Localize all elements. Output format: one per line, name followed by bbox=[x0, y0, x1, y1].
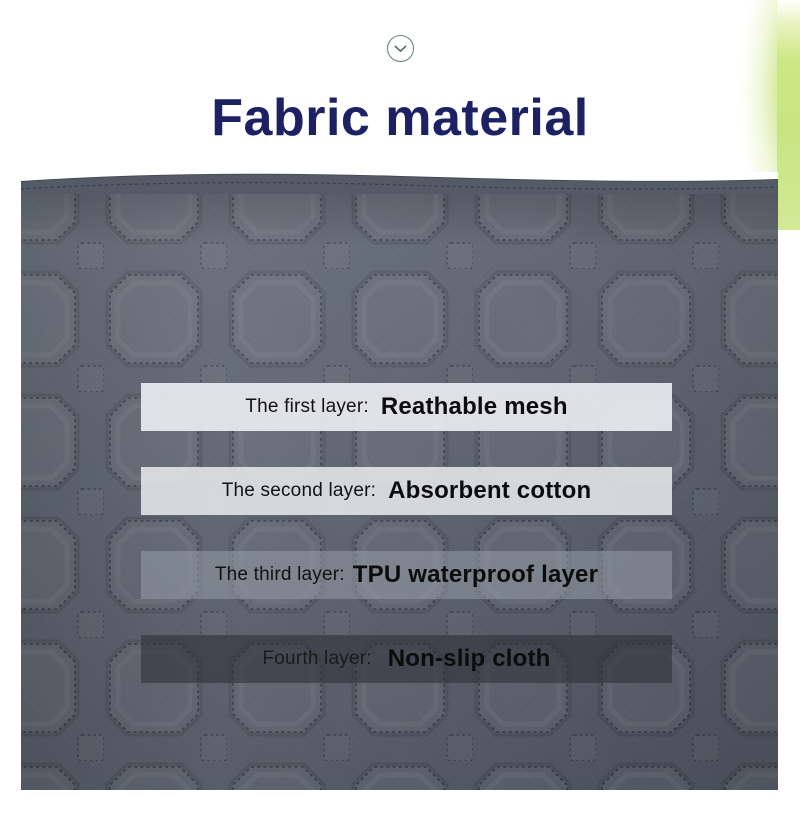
layer-value-second: Absorbent cotton bbox=[388, 477, 591, 505]
page-title: Fabric material bbox=[0, 88, 800, 148]
layer-band-second: The second layer: Absorbent cotton bbox=[141, 467, 672, 515]
layer-lead-third: The third layer: bbox=[215, 564, 345, 586]
fabric-hem-mask bbox=[21, 172, 778, 194]
layer-value-fourth: Non-slip cloth bbox=[388, 645, 551, 673]
layer-value-third: TPU waterproof layer bbox=[353, 561, 598, 589]
layer-lead-first: The first layer: bbox=[245, 396, 369, 418]
product-detail-page: Fabric material bbox=[0, 0, 800, 828]
layer-lead-fourth: Fourth layer: bbox=[262, 648, 371, 670]
layer-band-first: The first layer: Reathable mesh bbox=[141, 383, 672, 431]
layer-band-third: The third layer: TPU waterproof layer bbox=[141, 551, 672, 599]
layer-value-first: Reathable mesh bbox=[381, 393, 568, 421]
layer-lead-second: The second layer: bbox=[222, 480, 376, 502]
chevron-down-icon[interactable] bbox=[386, 34, 415, 63]
layer-band-fourth: Fourth layer: Non-slip cloth bbox=[141, 635, 672, 683]
